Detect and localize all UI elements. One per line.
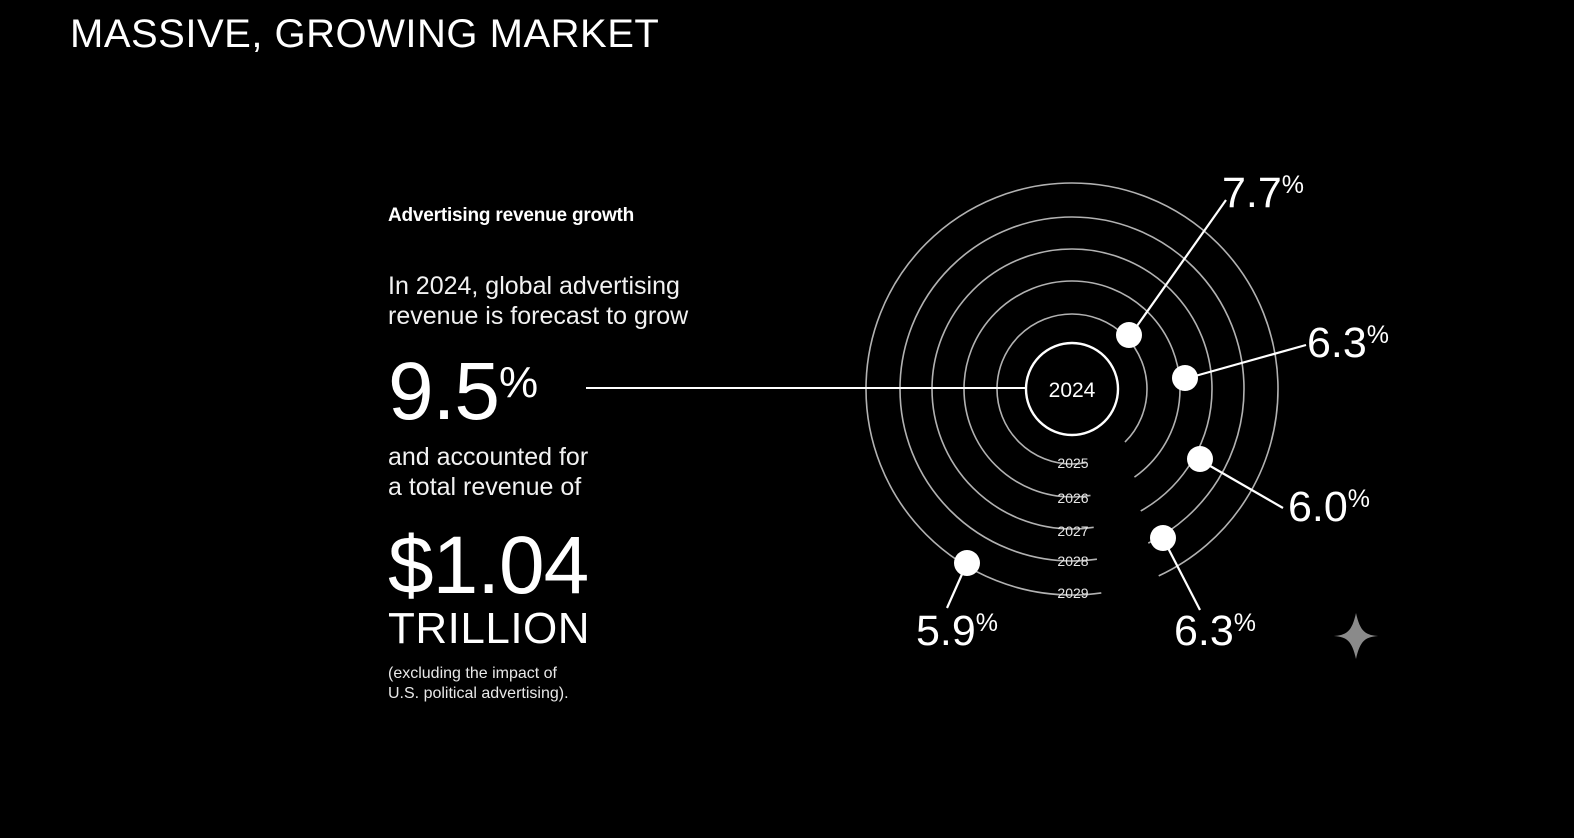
leader-line-2027: [1205, 463, 1283, 508]
value-label-2025: 7.7%: [1222, 169, 1304, 217]
mid-text-block: and accounted for a total revenue of: [388, 442, 768, 502]
growth-stat-value: 9.5: [388, 346, 499, 437]
ring-2025: [997, 314, 1147, 464]
radial-growth-chart: 2024 2025 2026 2027 2028 2029 7.7% 6.3%: [0, 0, 1574, 838]
chart-kicker-heading: Advertising revenue growth: [388, 205, 768, 227]
data-point-2028[interactable]: [1150, 525, 1176, 551]
hub-year-label: 2024: [1049, 379, 1096, 402]
leader-line-2029: [947, 572, 963, 608]
data-point-2029[interactable]: [954, 550, 980, 576]
mid-line-2: a total revenue of: [388, 472, 768, 502]
page-title: MASSIVE, GROWING MARKET: [70, 12, 659, 57]
ring-label-2027: 2027: [1057, 523, 1088, 539]
hub-circle: [1026, 343, 1118, 435]
ring-label-2028: 2028: [1057, 553, 1088, 569]
slide-canvas: MASSIVE, GROWING MARKET Advertising reve…: [0, 0, 1574, 838]
footnote-line-2: U.S. political advertising).: [388, 684, 768, 704]
ring-label-2025: 2025: [1057, 455, 1088, 471]
chart-rings: [866, 183, 1278, 595]
data-point-2027[interactable]: [1187, 446, 1213, 472]
left-text-panel: Advertising revenue growth In 2024, glob…: [388, 205, 768, 704]
sparkle-icon: [1331, 613, 1381, 659]
growth-stat-unit: %: [499, 358, 538, 407]
ring-label-2026: 2026: [1057, 490, 1088, 506]
intro-line-2: revenue is forecast to grow: [388, 301, 768, 331]
value-label-2027: 6.0%: [1288, 483, 1370, 531]
growth-stat: 9.5%: [388, 341, 768, 434]
ring-label-2029: 2029: [1057, 585, 1088, 601]
footnote: (excluding the impact of U.S. political …: [388, 664, 768, 704]
ring-2029: [866, 183, 1278, 595]
data-point-2025[interactable]: [1116, 322, 1142, 348]
leader-line-2025: [1132, 200, 1226, 333]
ring-2028: [900, 217, 1244, 561]
revenue-stat-value: $1.04: [388, 524, 768, 608]
value-label-2028: 6.3%: [1174, 607, 1256, 655]
leader-line-2028: [1167, 546, 1200, 610]
value-label-2026: 6.3%: [1307, 319, 1389, 367]
footnote-line-1: (excluding the impact of: [388, 664, 768, 684]
revenue-stat-scale: TRILLION: [388, 606, 768, 652]
ring-2026: [964, 281, 1180, 497]
leader-line-2026: [1188, 345, 1306, 378]
intro-line-1: In 2024, global advertising: [388, 271, 768, 301]
data-point-2026[interactable]: [1172, 365, 1198, 391]
mid-line-1: and accounted for: [388, 442, 768, 472]
ring-2027: [932, 249, 1212, 529]
value-label-2029: 5.9%: [916, 607, 998, 655]
